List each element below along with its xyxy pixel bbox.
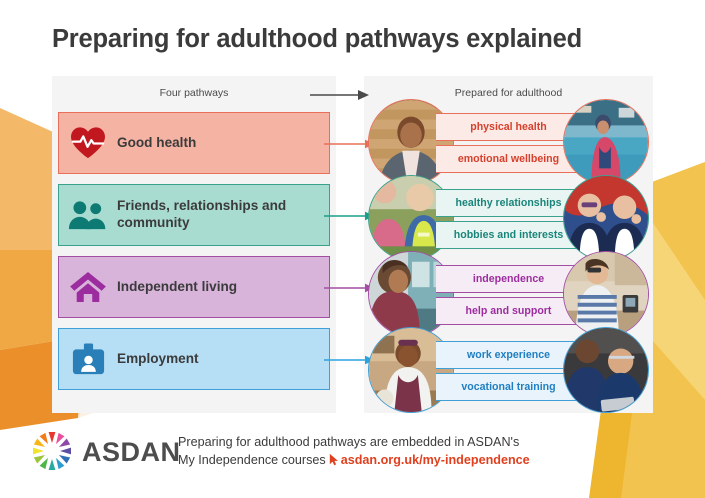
- left-panel-heading: Four pathways: [52, 87, 336, 99]
- people-group-icon: [59, 184, 117, 246]
- flow-arrow-icon: [310, 88, 370, 102]
- outcome-label: vocational training: [436, 373, 581, 401]
- asdan-petal-ring-logo: [30, 429, 74, 473]
- pathway-friends-relationships-community[interactable]: Friends, relationships and community: [58, 184, 330, 246]
- pathway-label: Independent living: [117, 279, 237, 296]
- page-title: Preparing for adulthood pathways explain…: [52, 25, 582, 54]
- outcome-labels: healthy relationships hobbies and intere…: [436, 184, 581, 254]
- photo-circle-right: [563, 99, 649, 185]
- heart-pulse-icon: [59, 112, 117, 174]
- pathway-label: Good health: [117, 135, 196, 152]
- mouse-cursor-icon: [329, 453, 339, 471]
- photo-circle-right: [563, 175, 649, 261]
- outcome-label: healthy relationships: [436, 189, 581, 217]
- outcome-row-independent-living: independence help and support: [364, 252, 653, 336]
- house-icon: [59, 256, 117, 318]
- outcome-label: emotional wellbeing: [436, 145, 581, 173]
- footer-line-2-row: My Independence coursesasdan.org.uk/my-i…: [178, 451, 530, 471]
- footer-line-2: My Independence courses: [178, 453, 326, 467]
- asdan-wordmark: ASDAN: [82, 437, 181, 468]
- pathway-label: Employment: [117, 351, 199, 368]
- photo-circle-right: [563, 327, 649, 413]
- outcome-labels: physical health emotional wellbeing: [436, 108, 581, 178]
- infographic-canvas: Preparing for adulthood pathways explain…: [0, 0, 705, 498]
- footer-line-1: Preparing for adulthood pathways are emb…: [178, 433, 530, 451]
- footer: ASDAN Preparing for adulthood pathways a…: [30, 425, 630, 485]
- outcome-label: help and support: [436, 297, 581, 325]
- pathway-employment[interactable]: Employment: [58, 328, 330, 390]
- pathway-good-health[interactable]: Good health: [58, 112, 330, 174]
- footer-text: Preparing for adulthood pathways are emb…: [178, 433, 530, 472]
- pathway-independent-living[interactable]: Independent living: [58, 256, 330, 318]
- outcome-labels: work experience vocational training: [436, 336, 581, 406]
- outcome-label: independence: [436, 265, 581, 293]
- right-panel-heading: Prepared for adulthood: [364, 87, 653, 99]
- outcome-label: physical health: [436, 113, 581, 141]
- pathway-label: Friends, relationships and community: [117, 198, 329, 232]
- outcome-labels: independence help and support: [436, 260, 581, 330]
- outcome-row-employment: work experience vocational training: [364, 328, 653, 412]
- outcome-label: hobbies and interests: [436, 221, 581, 249]
- footer-url[interactable]: asdan.org.uk/my-independence: [341, 453, 530, 467]
- photo-circle-right: [563, 251, 649, 337]
- outcome-label: work experience: [436, 341, 581, 369]
- outcome-row-good-health: physical health emotional wellbeing: [364, 100, 653, 184]
- id-badge-icon: [59, 328, 117, 390]
- outcome-row-friends: healthy relationships hobbies and intere…: [364, 176, 653, 260]
